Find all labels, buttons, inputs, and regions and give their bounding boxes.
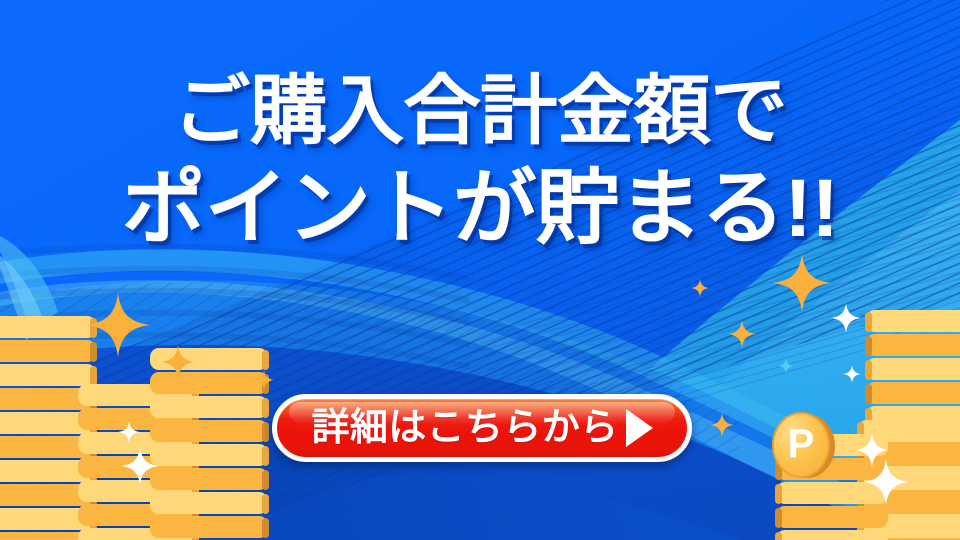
sparkle-icon: [254, 370, 274, 390]
point-coin-letter: P: [788, 424, 815, 464]
sparkle-icon: [863, 459, 909, 505]
point-coin-face: P: [772, 412, 830, 478]
sparkle-icon: [831, 303, 861, 333]
sparkle-icon: [855, 433, 889, 467]
details-button[interactable]: 詳細はこちらから: [272, 394, 692, 462]
sparkle-icon: [161, 345, 195, 379]
sparkle-icon: [773, 254, 831, 312]
sparkle-icon: [843, 365, 861, 383]
sparkle-icon: [118, 421, 140, 443]
details-button-label: 詳細はこちらから: [311, 409, 618, 447]
promo-banner: P ご購入合計金額で ポイントが貯まる!! 詳細はこちらから: [0, 0, 960, 540]
sparkle-icon: [778, 358, 794, 374]
cta-container[interactable]: 詳細はこちらから: [272, 394, 692, 462]
sparkle-icon: [86, 293, 150, 357]
play-arrow-icon: [626, 409, 653, 447]
sparkle-icon: [710, 413, 734, 437]
sparkle-icon: [121, 447, 159, 485]
sparkle-icon: [691, 279, 709, 297]
sparkle-icon: [728, 320, 756, 348]
